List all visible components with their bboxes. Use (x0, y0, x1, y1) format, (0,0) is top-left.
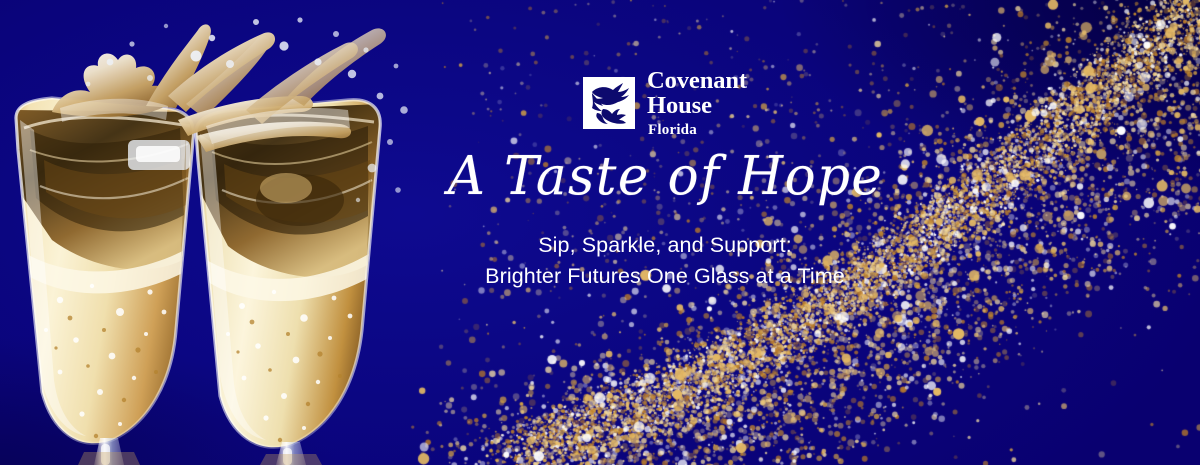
event-headline: A Taste of Hope (447, 150, 882, 203)
banner-content: Covenant House Florida A Taste of Hope S… (430, 0, 900, 465)
event-banner: Covenant House Florida A Taste of Hope S… (0, 0, 1200, 465)
right-glass-contents (190, 92, 390, 465)
logo-line-covenant: Covenant (647, 69, 747, 94)
logo-line-florida: Florida (648, 123, 747, 138)
subtitle-line-1: Sip, Sparkle, and Support: (485, 230, 845, 261)
event-subtitle: Sip, Sparkle, and Support: Brighter Futu… (485, 230, 845, 291)
dove-hand-icon (583, 77, 635, 129)
covenant-house-logo[interactable]: Covenant House Florida (583, 74, 747, 132)
logo-wordmark: Covenant House Florida (647, 69, 747, 138)
subtitle-line-2: Brighter Futures One Glass at a Time (485, 261, 845, 292)
champagne-glasses-image (0, 0, 420, 465)
logo-line-house: House (647, 94, 747, 119)
